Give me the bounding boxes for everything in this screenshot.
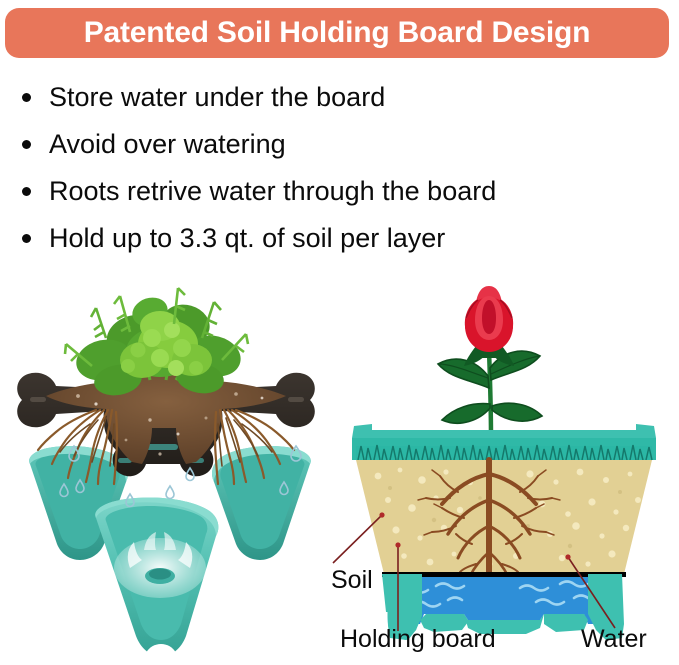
list-item: Store water under the board xyxy=(22,74,662,121)
feature-list: Store water under the board Avoid over w… xyxy=(22,74,662,262)
list-item: Avoid over watering xyxy=(22,121,662,168)
callout-label-water: Water xyxy=(581,627,647,652)
header-banner: Patented Soil Holding Board Design xyxy=(5,8,669,58)
cross-section-graphic xyxy=(330,268,679,665)
page-title: Patented Soil Holding Board Design xyxy=(84,18,591,48)
round-bullet-icon xyxy=(22,93,31,102)
rose-plant xyxy=(438,286,542,438)
round-bullet-icon xyxy=(22,140,31,149)
feature-text: Avoid over watering xyxy=(49,131,286,158)
product-photo xyxy=(0,268,340,665)
feature-text: Roots retrive water through the board xyxy=(49,178,496,205)
feature-text: Store water under the board xyxy=(49,84,385,111)
round-bullet-icon xyxy=(22,234,31,243)
list-item: Roots retrive water through the board xyxy=(22,168,662,215)
product-photo-graphic xyxy=(0,268,340,665)
grass-layer xyxy=(356,445,652,460)
cross-section-diagram xyxy=(330,268,679,665)
feature-text: Hold up to 3.3 qt. of soil per layer xyxy=(49,225,445,252)
callout-label-holding-board: Holding board xyxy=(340,627,496,652)
callout-label-soil: Soil xyxy=(331,568,373,593)
round-bullet-icon xyxy=(22,187,31,196)
list-item: Hold up to 3.3 qt. of soil per layer xyxy=(22,215,662,262)
